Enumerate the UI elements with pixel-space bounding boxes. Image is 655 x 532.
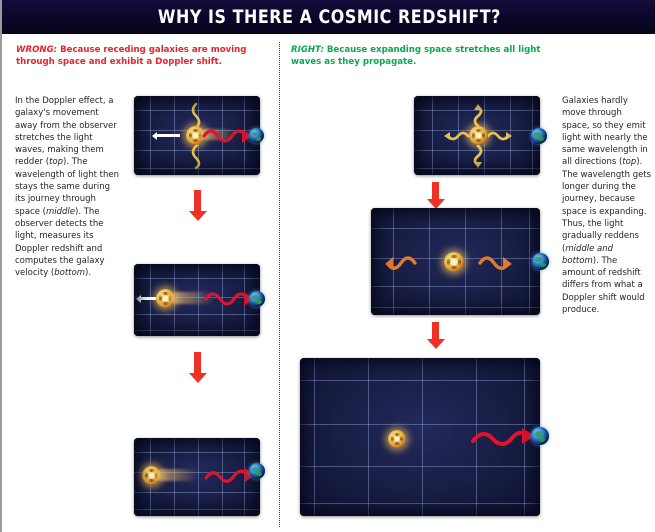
- doppler-emission-panel: [134, 96, 260, 175]
- column-divider: [279, 42, 280, 527]
- right-caption: Galaxies hardly move through space, so t…: [562, 95, 652, 316]
- wrong-heading: WRONG: Because receding galaxies are mov…: [16, 45, 266, 68]
- red-down-arrow-3: [432, 182, 439, 200]
- title-banner: WHY IS THERE A COSMIC REDSHIFT?: [2, 0, 655, 34]
- earth-globe: [249, 128, 264, 143]
- right-heading-text: Because expanding space stretches all li…: [291, 45, 540, 67]
- red-down-arrow-2: [194, 352, 201, 374]
- expansion-redshift-panel: [300, 358, 540, 516]
- earth-globe: [249, 463, 265, 479]
- page-title: WHY IS THERE A COSMIC REDSHIFT?: [158, 6, 501, 28]
- red-down-arrow-1: [194, 190, 201, 212]
- wrong-flag-label: WRONG:: [16, 45, 57, 55]
- doppler-detection-panel: [134, 438, 260, 516]
- right-flag-label: RIGHT:: [291, 45, 324, 55]
- earth-globe: [249, 291, 265, 307]
- earth-globe: [532, 253, 549, 270]
- right-heading: RIGHT: Because expanding space stretches…: [291, 45, 571, 68]
- expansion-emission-panel: [414, 96, 540, 175]
- doppler-travel-panel: [134, 264, 260, 336]
- red-down-arrow-4: [432, 322, 439, 340]
- left-caption: In the Doppler effect, a galaxy's moveme…: [15, 95, 119, 279]
- earth-globe: [531, 427, 549, 445]
- expansion-stretch-panel: [371, 208, 540, 315]
- earth-globe: [531, 128, 547, 144]
- infographic-page: WHY IS THERE A COSMIC REDSHIFT? WRONG: B…: [0, 0, 655, 532]
